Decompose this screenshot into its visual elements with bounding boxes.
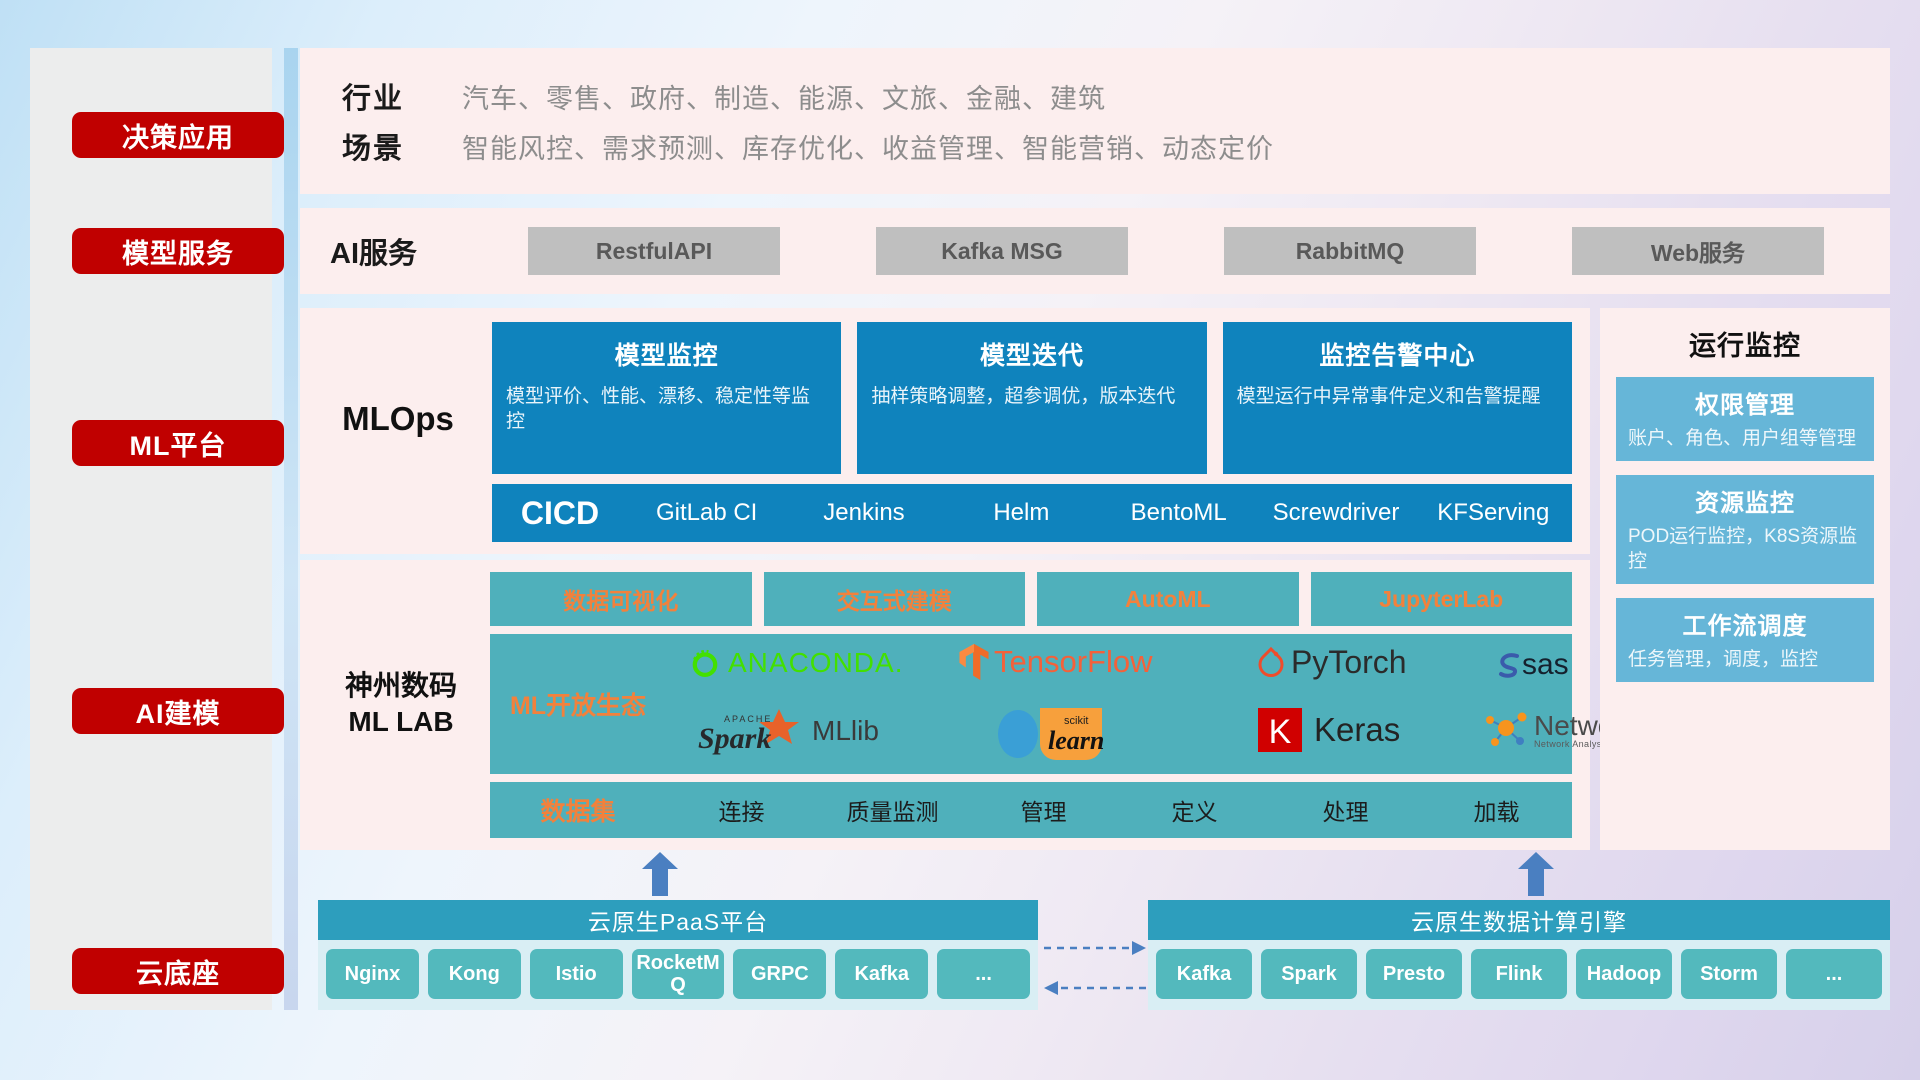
ml-lab-label-line2: ML LAB (316, 704, 486, 740)
dataset-item[interactable]: 加载 (1421, 793, 1572, 827)
mlops-label: MLOps (318, 400, 478, 438)
sidebar-item-ai-modeling[interactable]: AI建模 (72, 688, 284, 734)
mlops-card[interactable]: 模型迭代 抽样策略调整，超参调优，版本迭代 (857, 322, 1206, 474)
tensorflow-wordmark: TensorFlow (994, 644, 1153, 680)
spark-mllib-logo: APACHE Spark MLlib (696, 706, 879, 756)
dataset-item[interactable]: 管理 (968, 793, 1119, 827)
cloud-paas-chip-list: Nginx Kong Istio RocketMQ GRPC Kafka ... (318, 940, 1038, 999)
dataset-item-list: 连接 质量监测 管理 定义 处理 加载 (666, 793, 1572, 827)
keras-logo: K Keras (1256, 706, 1400, 754)
dataset-item[interactable]: 质量监测 (817, 793, 968, 827)
keras-wordmark: Keras (1314, 711, 1400, 749)
sas-swirl-icon (1494, 650, 1524, 680)
ai-service-panel: AI服务 RestfulAPI Kafka MSG RabbitMQ Web服务 (300, 208, 1890, 294)
cloud-paas-chip[interactable]: RocketMQ (632, 949, 725, 999)
anaconda-ring-icon (688, 646, 722, 680)
scikit-learn-logo: scikit learn (996, 704, 1128, 760)
mlops-card-title: 模型监控 (506, 336, 827, 372)
cicd-item[interactable]: BentoML (1100, 499, 1257, 527)
sas-wordmark: sas (1522, 648, 1569, 682)
sidebar-item-decision-app[interactable]: 决策应用 (72, 112, 284, 158)
cloud-data-engine-chip[interactable]: Kafka (1156, 949, 1252, 999)
scenario-value: 智能风控、需求预测、库存优化、收益管理、智能营销、动态定价 (462, 127, 1274, 166)
cloud-paas-chip[interactable]: Kong (428, 949, 521, 999)
industry-scenario-panel: 行业 汽车、零售、政府、制造、能源、文旅、金融、建筑 场景 智能风控、需求预测、… (300, 48, 1890, 194)
cloud-data-engine-chip[interactable]: Presto (1366, 949, 1462, 999)
cloud-paas-title: 云原生PaaS平台 (318, 900, 1038, 940)
up-arrow-data-engine-icon (1516, 852, 1556, 896)
dataset-item[interactable]: 处理 (1270, 793, 1421, 827)
mlops-panel: MLOps 模型监控 模型评价、性能、漂移、稳定性等监控 模型迭代 抽样策略调整… (300, 308, 1590, 554)
up-arrow-paas-icon (640, 852, 680, 896)
ai-service-chip[interactable]: Web服务 (1572, 227, 1824, 275)
tensorflow-mark-icon (956, 642, 992, 682)
cloud-data-engine-chip[interactable]: Hadoop (1576, 949, 1672, 999)
industry-key: 行业 (342, 75, 462, 117)
mlops-card-desc: 抽样策略调整，超参调优，版本迭代 (871, 384, 1192, 409)
anaconda-logo: ANACONDA. (688, 646, 903, 680)
dataset-band: 数据集 连接 质量监测 管理 定义 处理 加载 (490, 782, 1572, 838)
cloud-paas-chip[interactable]: Nginx (326, 949, 419, 999)
cloud-data-engine-title: 云原生数据计算引擎 (1148, 900, 1890, 940)
mlops-card-desc: 模型运行中异常事件定义和告警提醒 (1237, 384, 1558, 409)
ml-ecosystem-band: ML开放生态 ANACONDA. TensorFlow (490, 634, 1572, 774)
tab-automl[interactable]: AutoML (1037, 572, 1299, 626)
ai-service-chip[interactable]: RestfulAPI (528, 227, 780, 275)
industry-row: 行业 汽车、零售、政府、制造、能源、文旅、金融、建筑 (300, 71, 1890, 121)
cloud-paas-panel: 云原生PaaS平台 Nginx Kong Istio RocketMQ GRPC… (318, 900, 1038, 1010)
mlops-card-list: 模型监控 模型评价、性能、漂移、稳定性等监控 模型迭代 抽样策略调整，超参调优，… (492, 322, 1572, 474)
cicd-item[interactable]: GitLab CI (628, 499, 785, 527)
ml-ecosystem-logo-area: ANACONDA. TensorFlow PyTorch (666, 634, 1572, 774)
mlops-card[interactable]: 监控告警中心 模型运行中异常事件定义和告警提醒 (1223, 322, 1572, 474)
ml-lab-tab-list: 数据可视化 交互式建模 AutoML JupyterLab (490, 572, 1572, 626)
cicd-label: CICD (492, 495, 628, 532)
ml-lab-panel: 神州数码 ML LAB 数据可视化 交互式建模 AutoML JupyterLa… (300, 560, 1590, 850)
dataset-item[interactable]: 连接 (666, 793, 817, 827)
cloud-paas-chip[interactable]: GRPC (733, 949, 826, 999)
ai-service-chip[interactable]: Kafka MSG (876, 227, 1128, 275)
pytorch-logo: PyTorch (1256, 644, 1407, 681)
cloud-data-engine-chip[interactable]: Flink (1471, 949, 1567, 999)
cloud-data-engine-chip[interactable]: Storm (1681, 949, 1777, 999)
cloud-paas-chip[interactable]: Istio (530, 949, 623, 999)
tab-data-visualization[interactable]: 数据可视化 (490, 572, 752, 626)
monitor-card-title: 工作流调度 (1628, 606, 1862, 641)
pytorch-flame-icon (1256, 645, 1286, 681)
cicd-item[interactable]: Screwdriver (1257, 499, 1414, 527)
cicd-item-list: GitLab CI Jenkins Helm BentoML Screwdriv… (628, 499, 1572, 527)
keras-k-icon: K (1256, 706, 1304, 754)
sidebar-item-model-service[interactable]: 模型服务 (72, 228, 284, 274)
cicd-item[interactable]: Helm (943, 499, 1100, 527)
monitor-card-title: 资源监控 (1628, 483, 1862, 518)
bidirectional-link-arrows-icon (1040, 932, 1150, 1002)
dataset-label: 数据集 (490, 792, 666, 828)
ml-lab-label: 神州数码 ML LAB (316, 668, 486, 740)
anaconda-wordmark: ANACONDA. (728, 647, 903, 679)
svg-text:learn: learn (1048, 726, 1104, 755)
sidebar-item-label: 模型服务 (122, 232, 234, 271)
architecture-diagram: 决策应用 模型服务 ML平台 AI建模 云底座 行业 汽车、零售、政府、制造、能… (0, 0, 1920, 1080)
ai-service-chip-list: RestfulAPI Kafka MSG RabbitMQ Web服务 (480, 227, 1890, 275)
ai-service-chip[interactable]: RabbitMQ (1224, 227, 1476, 275)
tab-interactive-modeling[interactable]: 交互式建模 (764, 572, 1026, 626)
mlops-card[interactable]: 模型监控 模型评价、性能、漂移、稳定性等监控 (492, 322, 841, 474)
monitor-card-desc: POD运行监控，K8S资源监控 (1628, 524, 1862, 574)
networkx-graph-icon (1484, 708, 1530, 752)
cloud-data-engine-chip-more[interactable]: ... (1786, 949, 1882, 999)
cloud-data-engine-chip-list: Kafka Spark Presto Flink Hadoop Storm ..… (1148, 940, 1890, 999)
cloud-paas-chip-more[interactable]: ... (937, 949, 1030, 999)
mlops-card-title: 模型迭代 (871, 336, 1192, 372)
content-left-edge (284, 48, 298, 1010)
scenario-key: 场景 (342, 125, 462, 167)
tensorflow-logo: TensorFlow (956, 642, 1153, 682)
monitor-card-desc: 账户、角色、用户组等管理 (1628, 426, 1862, 451)
sidebar-item-label: 云底座 (136, 952, 220, 991)
sas-logo: sas (1494, 648, 1569, 682)
pytorch-wordmark: PyTorch (1291, 644, 1407, 681)
sidebar-item-label: 决策应用 (122, 116, 234, 155)
sidebar-item-label: AI建模 (136, 692, 221, 731)
scikit-learn-mark-icon: scikit learn (996, 704, 1128, 760)
monitor-card-workflow[interactable]: 工作流调度 任务管理，调度，监控 (1616, 598, 1874, 682)
cloud-data-engine-chip[interactable]: Spark (1261, 949, 1357, 999)
mllib-wordmark: MLlib (812, 715, 879, 747)
cloud-paas-chip[interactable]: Kafka (835, 949, 928, 999)
ml-ecosystem-label: ML开放生态 (490, 686, 666, 722)
sidebar-item-label: ML平台 (130, 424, 227, 463)
cicd-item[interactable]: Jenkins (785, 499, 942, 527)
runtime-monitoring-title: 运行监控 (1600, 308, 1890, 363)
tab-jupyterlab[interactable]: JupyterLab (1311, 572, 1573, 626)
industry-value: 汽车、零售、政府、制造、能源、文旅、金融、建筑 (462, 77, 1106, 116)
sidebar-item-cloud-base[interactable]: 云底座 (72, 948, 284, 994)
cicd-item[interactable]: KFServing (1415, 499, 1572, 527)
monitor-card-permission[interactable]: 权限管理 账户、角色、用户组等管理 (1616, 377, 1874, 461)
mlops-card-title: 监控告警中心 (1237, 336, 1558, 372)
ml-lab-label-line1: 神州数码 (316, 668, 486, 704)
sidebar-item-ml-platform[interactable]: ML平台 (72, 420, 284, 466)
svg-text:Spark: Spark (698, 722, 771, 755)
monitor-card-resource[interactable]: 资源监控 POD运行监控，K8S资源监控 (1616, 475, 1874, 584)
monitor-card-title: 权限管理 (1628, 385, 1862, 420)
monitor-card-desc: 任务管理，调度，监控 (1628, 647, 1862, 672)
scenario-row: 场景 智能风控、需求预测、库存优化、收益管理、智能营销、动态定价 (300, 121, 1890, 171)
mlops-card-desc: 模型评价、性能、漂移、稳定性等监控 (506, 384, 827, 435)
svg-text:K: K (1269, 713, 1292, 751)
ai-service-label: AI服务 (330, 230, 480, 272)
cicd-bar: CICD GitLab CI Jenkins Helm BentoML Scre… (492, 484, 1572, 542)
cloud-data-engine-panel: 云原生数据计算引擎 Kafka Spark Presto Flink Hadoo… (1148, 900, 1890, 1010)
runtime-monitoring-panel: 运行监控 权限管理 账户、角色、用户组等管理 资源监控 POD运行监控，K8S资… (1600, 308, 1890, 850)
dataset-item[interactable]: 定义 (1119, 793, 1270, 827)
spark-star-icon: APACHE Spark (696, 706, 808, 756)
layer-rail: 决策应用 模型服务 ML平台 AI建模 云底座 (30, 48, 272, 1010)
